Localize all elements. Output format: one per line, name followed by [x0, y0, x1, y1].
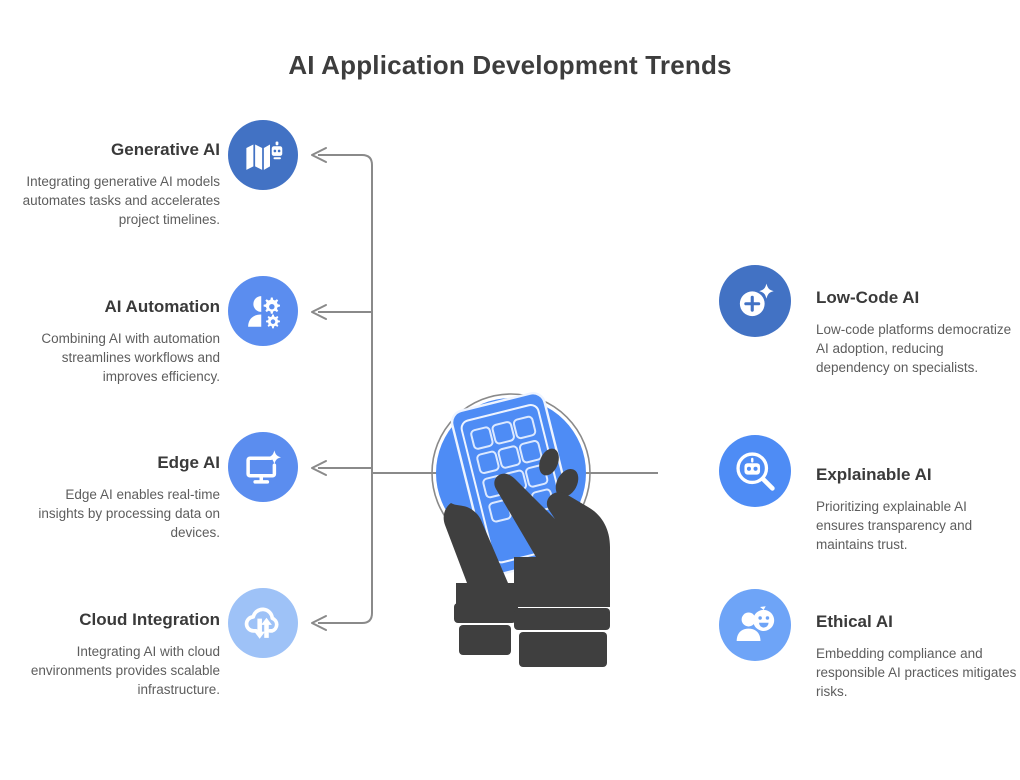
infographic-canvas: AI Application Development Trends Genera…	[0, 0, 1020, 780]
map-robot-icon[interactable]	[228, 120, 298, 190]
item-title: AI Automation	[18, 297, 220, 317]
item-ethical-ai: Ethical AI Embedding compliance and resp…	[816, 612, 1018, 701]
item-body: Edge AI enables real-time insights by pr…	[18, 485, 220, 543]
item-title: Explainable AI	[816, 465, 1018, 485]
item-title: Cloud Integration	[18, 610, 220, 630]
monitor-sparkle-icon[interactable]	[228, 432, 298, 502]
hands-holding-tablet-illustration	[418, 378, 688, 738]
page-title: AI Application Development Trends	[0, 50, 1020, 81]
item-body: Integrating generative AI models automat…	[18, 172, 220, 230]
cloud-sync-icon[interactable]	[228, 588, 298, 658]
item-ai-automation: AI Automation Combining AI with automati…	[18, 297, 220, 386]
person-gear-icon[interactable]	[228, 276, 298, 346]
plus-sparkle-icon[interactable]	[719, 265, 791, 337]
item-body: Integrating AI with cloud environments p…	[18, 642, 220, 700]
item-body: Low-code platforms democratize AI adopti…	[816, 320, 1018, 378]
item-title: Ethical AI	[816, 612, 1018, 632]
item-cloud-integration: Cloud Integration Integrating AI with cl…	[18, 610, 220, 699]
item-generative-ai: Generative AI Integrating generative AI …	[18, 140, 220, 229]
arrowhead-edge	[312, 461, 326, 475]
robot-magnifier-icon[interactable]	[719, 435, 791, 507]
item-title: Generative AI	[18, 140, 220, 160]
item-body: Embedding compliance and responsible AI …	[816, 644, 1018, 702]
item-body: Combining AI with automation streamlines…	[18, 329, 220, 387]
item-explainable-ai: Explainable AI Prioritizing explainable …	[816, 465, 1018, 554]
item-title: Low-Code AI	[816, 288, 1018, 308]
arrowhead-cloud	[312, 616, 326, 630]
item-body: Prioritizing explainable AI ensures tran…	[816, 497, 1018, 555]
arrowhead-generative	[312, 148, 326, 162]
item-low-code-ai: Low-Code AI Low-code platforms democrati…	[816, 288, 1018, 377]
person-smile-icon[interactable]	[719, 589, 791, 661]
item-edge-ai: Edge AI Edge AI enables real-time insigh…	[18, 453, 220, 542]
item-title: Edge AI	[18, 453, 220, 473]
arrowhead-automation	[312, 305, 326, 319]
